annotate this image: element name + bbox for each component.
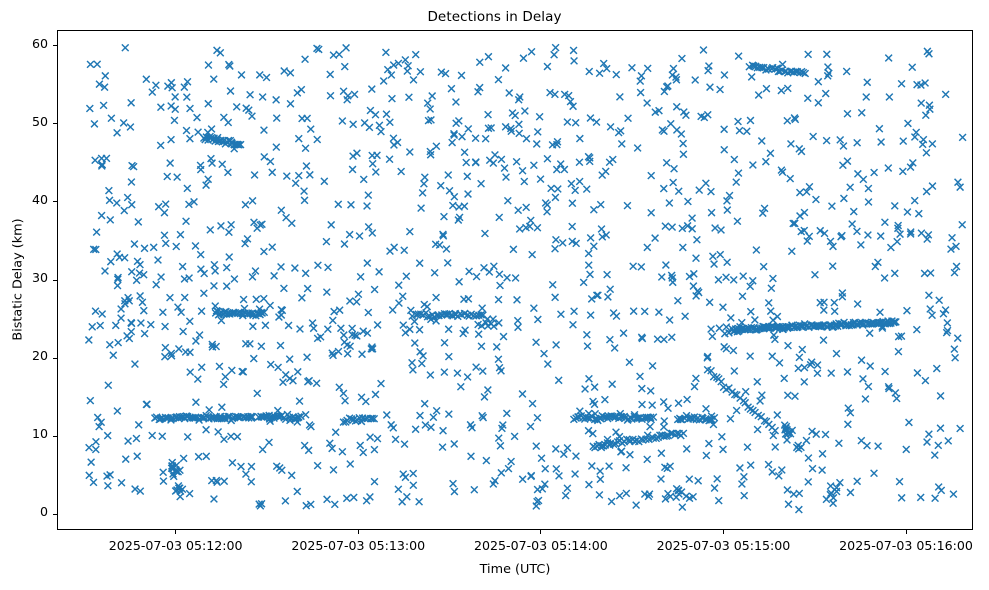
scatter-layer [58, 31, 972, 529]
x-tick-mark [175, 530, 176, 534]
x-tick-label: 2025-07-03 05:12:00 [109, 538, 243, 553]
y-tick-mark [53, 201, 57, 202]
x-tick-mark [540, 530, 541, 534]
y-tick-mark [53, 358, 57, 359]
x-tick-label: 2025-07-03 05:14:00 [474, 538, 608, 553]
y-axis-label: Bistatic Delay (km) [11, 30, 26, 530]
chart-title: Detections in Delay [0, 9, 989, 25]
x-tick-label: 2025-07-03 05:15:00 [657, 538, 791, 553]
x-tick-mark [358, 530, 359, 534]
plot-axes-area [57, 30, 973, 530]
x-tick-mark [906, 530, 907, 534]
y-tick-mark [53, 280, 57, 281]
y-tick-mark [53, 514, 57, 515]
y-tick-mark [53, 45, 57, 46]
x-axis-label: Time (UTC) [57, 562, 973, 577]
y-tick-mark [53, 123, 57, 124]
matplotlib-figure: Detections in Delay 0102030405060 2025-0… [0, 0, 989, 590]
x-tick-mark [723, 530, 724, 534]
y-tick-mark [53, 436, 57, 437]
x-tick-label: 2025-07-03 05:13:00 [291, 538, 425, 553]
x-tick-label: 2025-07-03 05:16:00 [839, 538, 973, 553]
